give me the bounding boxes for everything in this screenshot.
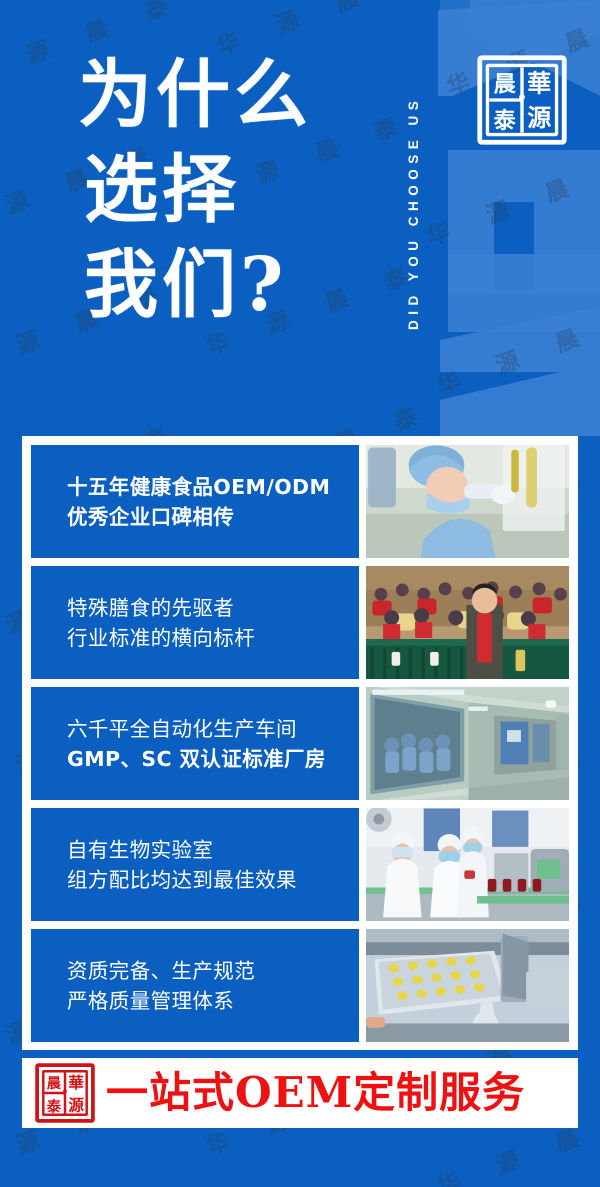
svg-text:泰: 泰	[493, 108, 517, 134]
svg-text:源: 源	[527, 103, 551, 132]
vertical-english-subtitle: DID YOU CHOOSE US	[406, 22, 432, 404]
feature-card-5[interactable]: 资质完备、生产规范 严格质量管理体系	[31, 929, 359, 1042]
feature-card-3[interactable]: 六千平全自动化生产车间 GMP、SC 双认证标准厂房	[31, 687, 359, 800]
page-title: 为什么 选择 我们?	[78, 48, 312, 333]
header-section: 为什么 选择 我们? DID YOU CHOOSE US 華 晨 源 泰	[0, 0, 600, 436]
svg-text:晨: 晨	[47, 1074, 62, 1092]
footer-slogan: 一站式OEM定制服务	[106, 1072, 525, 1114]
svg-text:華: 華	[68, 1073, 84, 1092]
feature-line-2: 组方配比均达到最佳效果	[67, 865, 359, 895]
feature-row: 资质完备、生产规范 严格质量管理体系	[31, 929, 569, 1042]
feature-row: 特殊膳食的先驱者 行业标准的横向标杆	[31, 566, 569, 679]
feature-card-4[interactable]: 自有生物实验室 组方配比均达到最佳效果	[31, 808, 359, 921]
feature-row: 十五年健康食品OEM/ODM 优秀企业口碑相传	[31, 445, 569, 558]
feature-line-1: 资质完备、生产规范	[67, 956, 359, 986]
footer-brand-seal-logo: 華 晨 源 泰	[34, 1062, 96, 1124]
feature-row: 自有生物实验室 组方配比均达到最佳效果	[31, 808, 569, 921]
svg-text:華: 華	[527, 68, 551, 97]
feature-card-1[interactable]: 十五年健康食品OEM/ODM 优秀企业口碑相传	[31, 445, 359, 558]
feature-line-2: 行业标准的横向标杆	[67, 623, 359, 653]
feature-photo-production-line-workers	[366, 808, 569, 921]
feature-line-1: 六千平全自动化生产车间	[67, 714, 359, 744]
poster-root: 华 源 晨 泰 华 源 晨 泰 华 源 晨 泰 华 源 晨 泰 华 源 晨 泰 …	[0, 0, 600, 1187]
svg-text:泰: 泰	[47, 1098, 62, 1116]
feature-line-2: 优秀企业口碑相传	[67, 502, 359, 532]
headline-line-3: 我们?	[78, 238, 312, 333]
feature-card-2[interactable]: 特殊膳食的先驱者 行业标准的横向标杆	[31, 566, 359, 679]
svg-text:源: 源	[68, 1095, 84, 1114]
feature-photo-lab-technician	[366, 445, 569, 558]
brand-seal-logo: 華 晨 源 泰	[474, 52, 570, 148]
features-panel: 十五年健康食品OEM/ODM 优秀企业口碑相传	[22, 436, 578, 1050]
feature-line-2: GMP、SC 双认证标准厂房	[67, 744, 359, 774]
feature-line-2: 严格质量管理体系	[67, 986, 359, 1016]
headline-line-2: 选择	[78, 143, 312, 238]
svg-text:晨: 晨	[494, 71, 517, 97]
footer-bar: 華 晨 源 泰 一站式OEM定制服务	[22, 1058, 578, 1128]
feature-row: 六千平全自动化生产车间 GMP、SC 双认证标准厂房	[31, 687, 569, 800]
feature-line-1: 十五年健康食品OEM/ODM	[67, 472, 359, 502]
feature-photo-cleanroom-corridor	[366, 687, 569, 800]
headline-line-1: 为什么	[78, 48, 312, 143]
feature-photo-blister-packaging-machine	[366, 929, 569, 1042]
feature-line-1: 自有生物实验室	[67, 835, 359, 865]
feature-photo-conference-audience	[366, 566, 569, 679]
feature-line-1: 特殊膳食的先驱者	[67, 593, 359, 623]
